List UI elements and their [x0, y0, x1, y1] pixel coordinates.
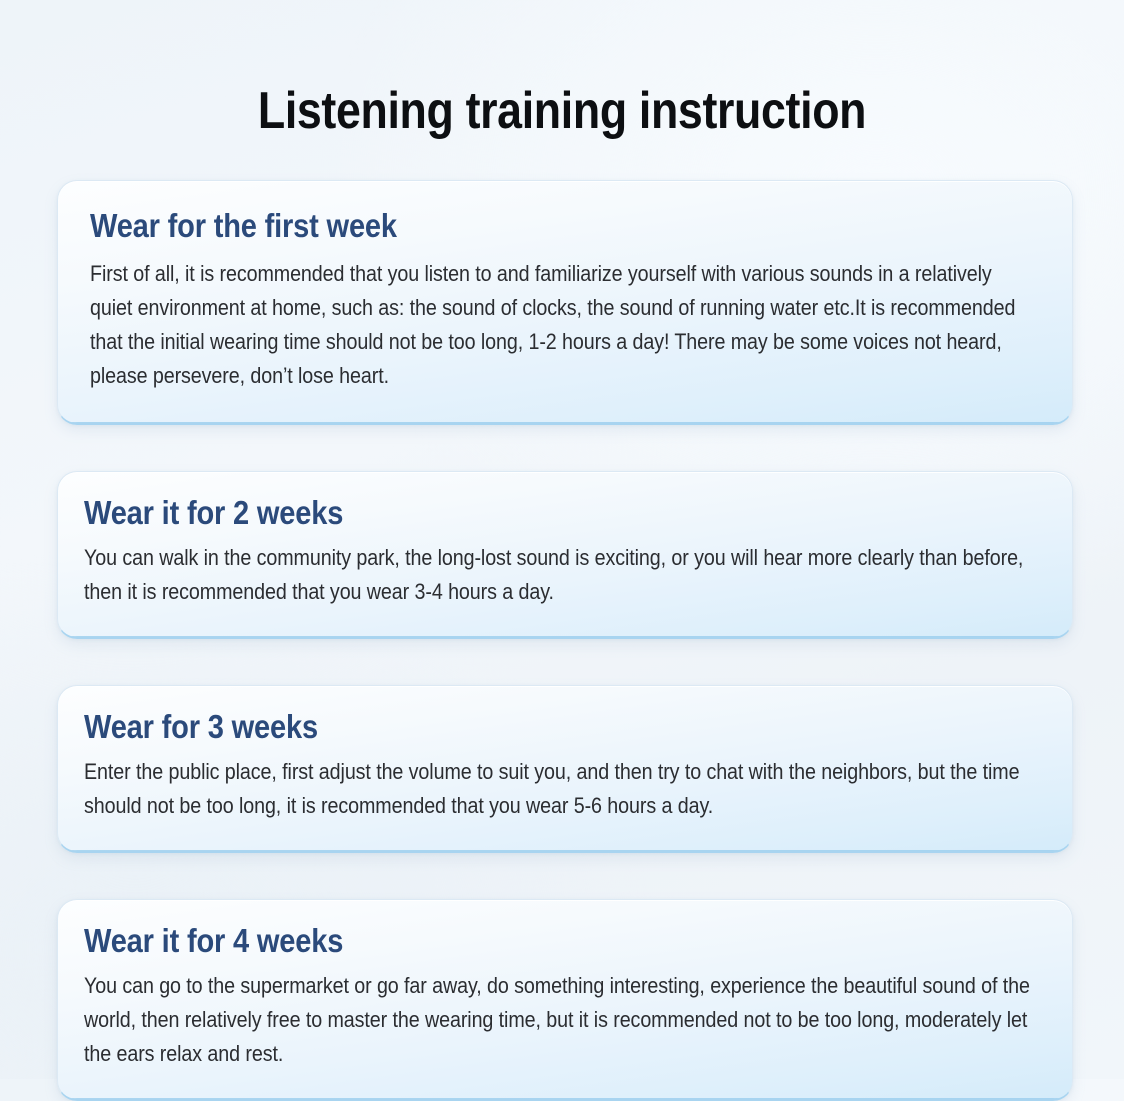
- card-heading: Wear it for 2 weeks: [84, 494, 927, 532]
- card-body-text: First of all, it is recommended that you…: [90, 257, 1038, 393]
- page-title: Listening training instruction: [79, 81, 1046, 141]
- instruction-card-week-2: Wear it for 2 weeks You can walk in the …: [57, 471, 1073, 639]
- instruction-card-list: Wear for the first week First of all, it…: [57, 180, 1073, 1101]
- instruction-card-week-4: Wear it for 4 weeks You can go to the su…: [57, 899, 1073, 1101]
- instruction-page: Listening training instruction Wear for …: [0, 0, 1124, 1079]
- instruction-card-week-1: Wear for the first week First of all, it…: [57, 180, 1073, 425]
- instruction-card-week-3: Wear for 3 weeks Enter the public place,…: [57, 685, 1073, 853]
- card-heading: Wear for the first week: [90, 207, 924, 245]
- card-heading: Wear it for 4 weeks: [84, 922, 927, 960]
- card-body-text: You can go to the supermarket or go far …: [84, 969, 1042, 1071]
- card-body-text: You can walk in the community park, the …: [84, 541, 1042, 609]
- card-heading: Wear for 3 weeks: [84, 708, 927, 746]
- card-body-text: Enter the public place, first adjust the…: [84, 755, 1042, 823]
